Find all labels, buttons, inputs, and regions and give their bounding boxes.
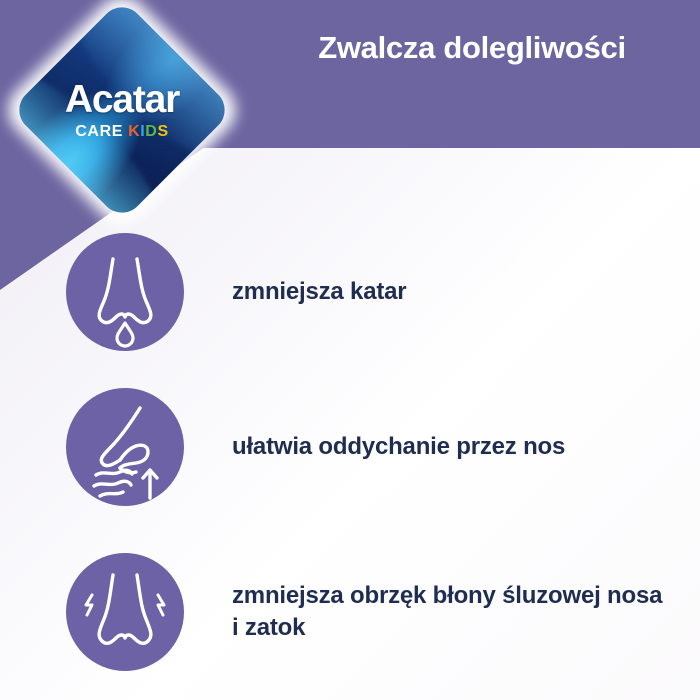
lightning-left-icon [86, 595, 92, 615]
feature-label: zmniejsza obrzęk błony śluzowej nosa i z… [232, 580, 666, 644]
nose-with-lightning-icon [66, 553, 184, 671]
feature-label: zmniejsza katar [232, 276, 406, 308]
page-title: Zwalcza dolegliwości [262, 28, 682, 68]
logo-tagline-s: S [157, 123, 168, 140]
nose-with-drip-icon [66, 233, 184, 351]
logo-tagline-care: CARE [75, 123, 123, 140]
feature-row: zmniejsza katar [66, 233, 666, 351]
nose-airflow-arrow-icon [66, 388, 184, 506]
logo-tagline-k: K [128, 123, 140, 140]
feature-row: ułatwia oddychanie przez nos [66, 388, 666, 506]
logo-tagline: CARE KIDS [75, 123, 168, 140]
up-arrow-icon [143, 470, 157, 498]
brand-logo: Acatar CARE KIDS [34, 22, 210, 198]
lightning-right-icon [158, 595, 164, 615]
water-drop-icon [117, 323, 133, 346]
promo-banner: Zwalcza dolegliwości Acatar CARE KIDS zm… [0, 0, 700, 700]
logo-brand-name: Acatar [65, 80, 179, 120]
logo-text-layer: Acatar CARE KIDS [34, 22, 210, 198]
logo-tagline-d: D [145, 123, 157, 140]
feature-label: ułatwia oddychanie przez nos [232, 431, 565, 463]
feature-row: zmniejsza obrzęk błony śluzowej nosa i z… [66, 553, 666, 671]
